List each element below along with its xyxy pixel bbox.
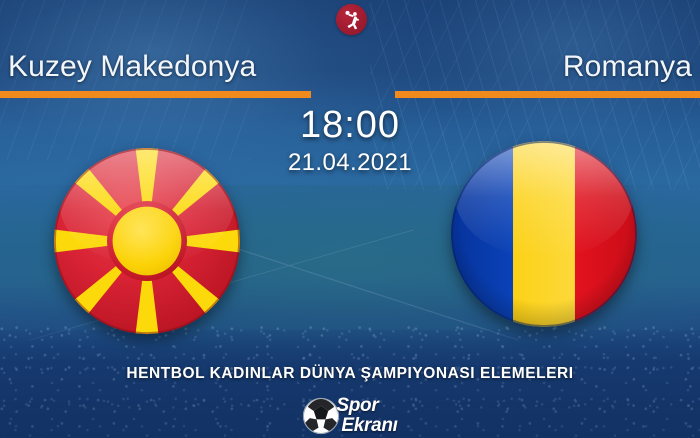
brand-name-bottom: Ekranı [341,416,397,435]
brand-name-top: Spor [336,396,397,415]
site-logo[interactable]: Spor Ekranı [0,396,700,435]
romania-flag-icon [451,141,637,327]
kickoff-time: 18:00 [0,104,700,146]
home-team-name: Kuzey Makedonya [8,50,256,84]
match-fixture-banner: Kuzey Makedonya Romanya 18:00 21.04.2021 [0,0,700,438]
accent-rule-left [0,91,311,98]
brand-wordmark: Spor Ekranı [343,396,397,435]
away-team-name: Romanya [563,50,692,84]
handball-player-icon [336,4,367,35]
football-ball-icon [302,397,340,435]
north-macedonia-flag-icon [54,148,240,334]
competition-name: HENTBOL KADINLAR DÜNYA ŞAMPIYONASI ELEME… [0,365,700,383]
accent-rule-right [395,91,700,98]
